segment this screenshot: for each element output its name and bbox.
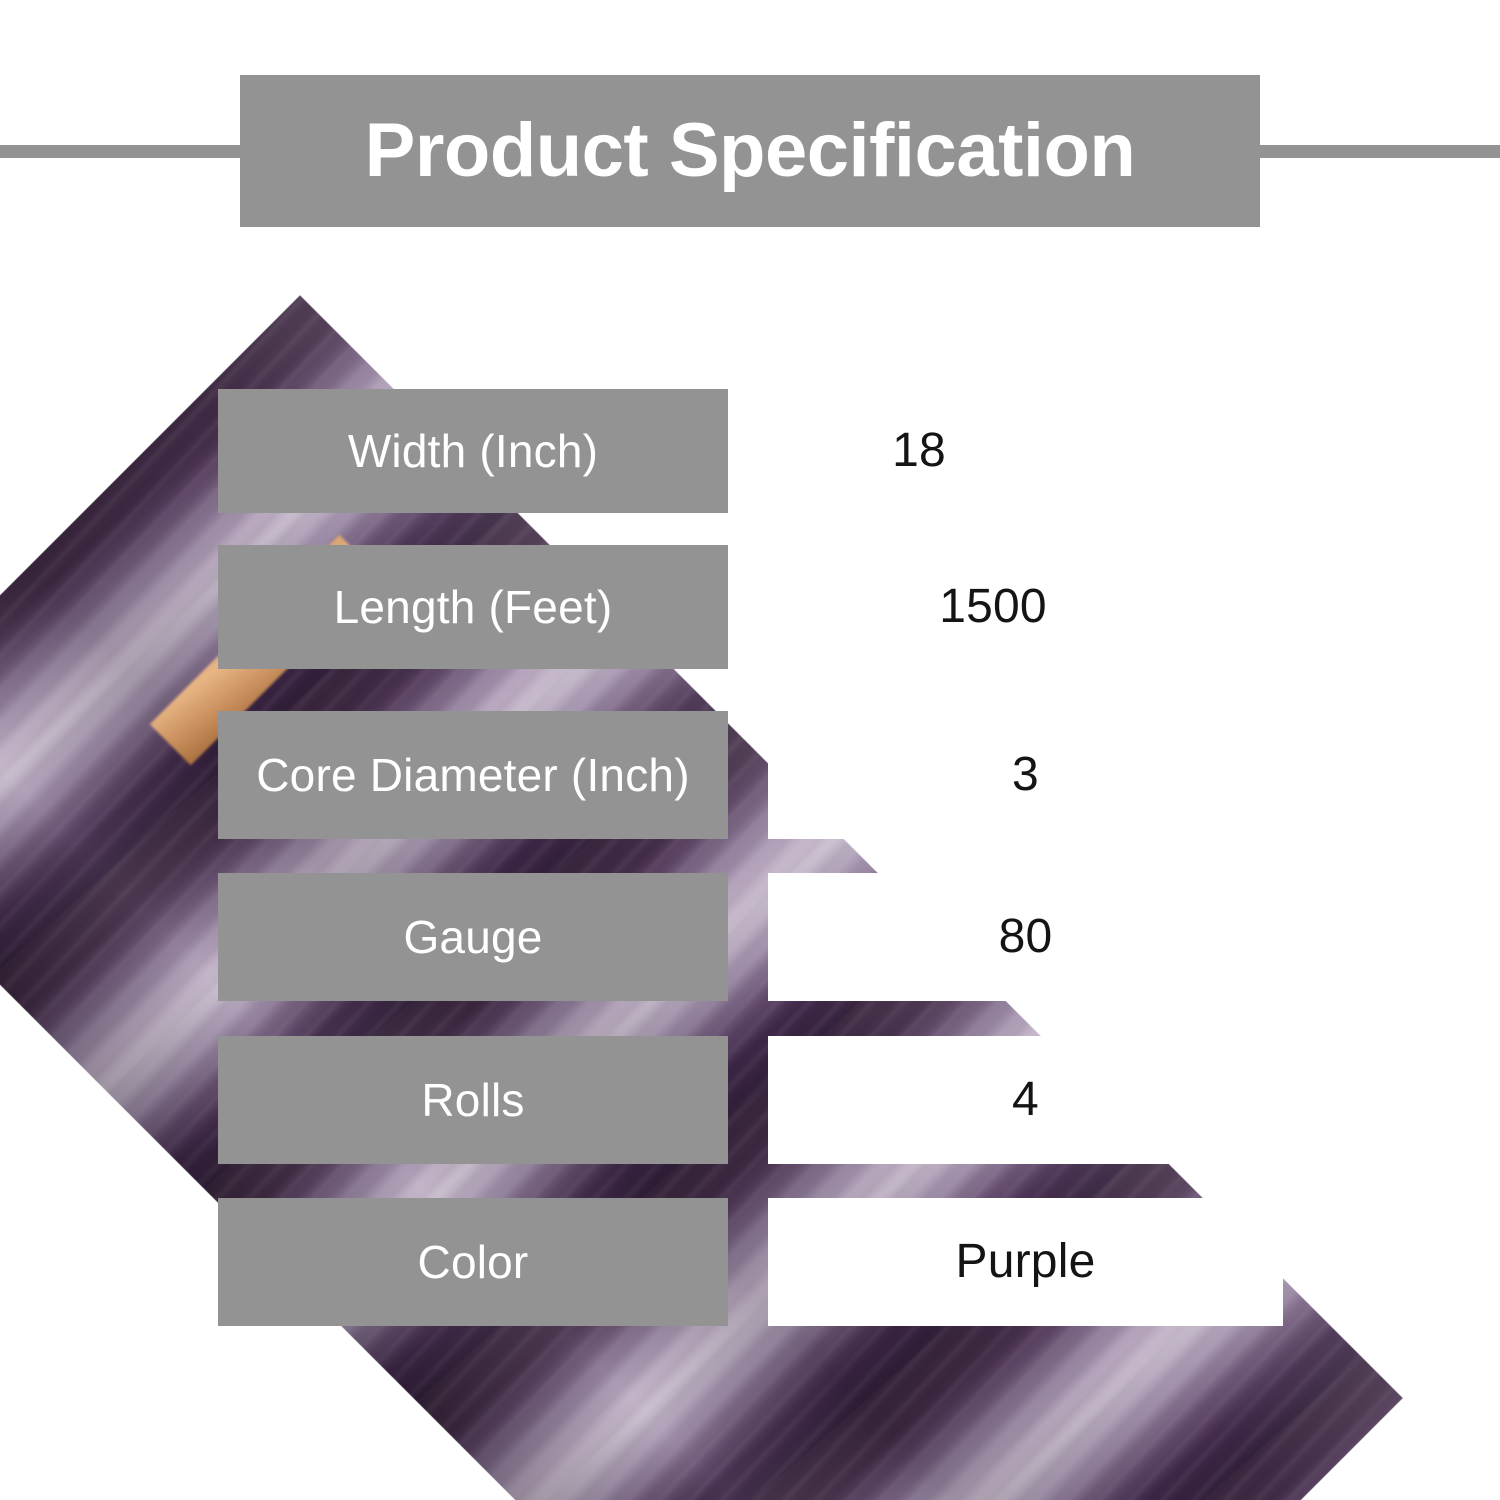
spec-label-core-diameter: Core Diameter (Inch) [218, 711, 728, 839]
spec-label-gauge: Gauge [218, 873, 728, 1001]
spec-value-rolls: 4 [768, 1036, 1283, 1164]
spec-value-gauge: 80 [768, 873, 1283, 1001]
spec-label-rolls: Rolls [218, 1036, 728, 1164]
spec-value-length: 1500 [768, 545, 1218, 669]
spec-label-width: Width (Inch) [218, 389, 728, 513]
spec-label-color: Color [218, 1198, 728, 1326]
spec-value-color: Purple [768, 1198, 1283, 1326]
spec-value-core-diameter: 3 [768, 711, 1283, 839]
spec-value-width: 18 [768, 389, 1070, 513]
product-specification-page: Product Specification Width (Inch) 18 Le… [0, 0, 1500, 1500]
specification-table: Width (Inch) 18 Length (Feet) 1500 Core … [0, 0, 1500, 1500]
spec-label-length: Length (Feet) [218, 545, 728, 669]
